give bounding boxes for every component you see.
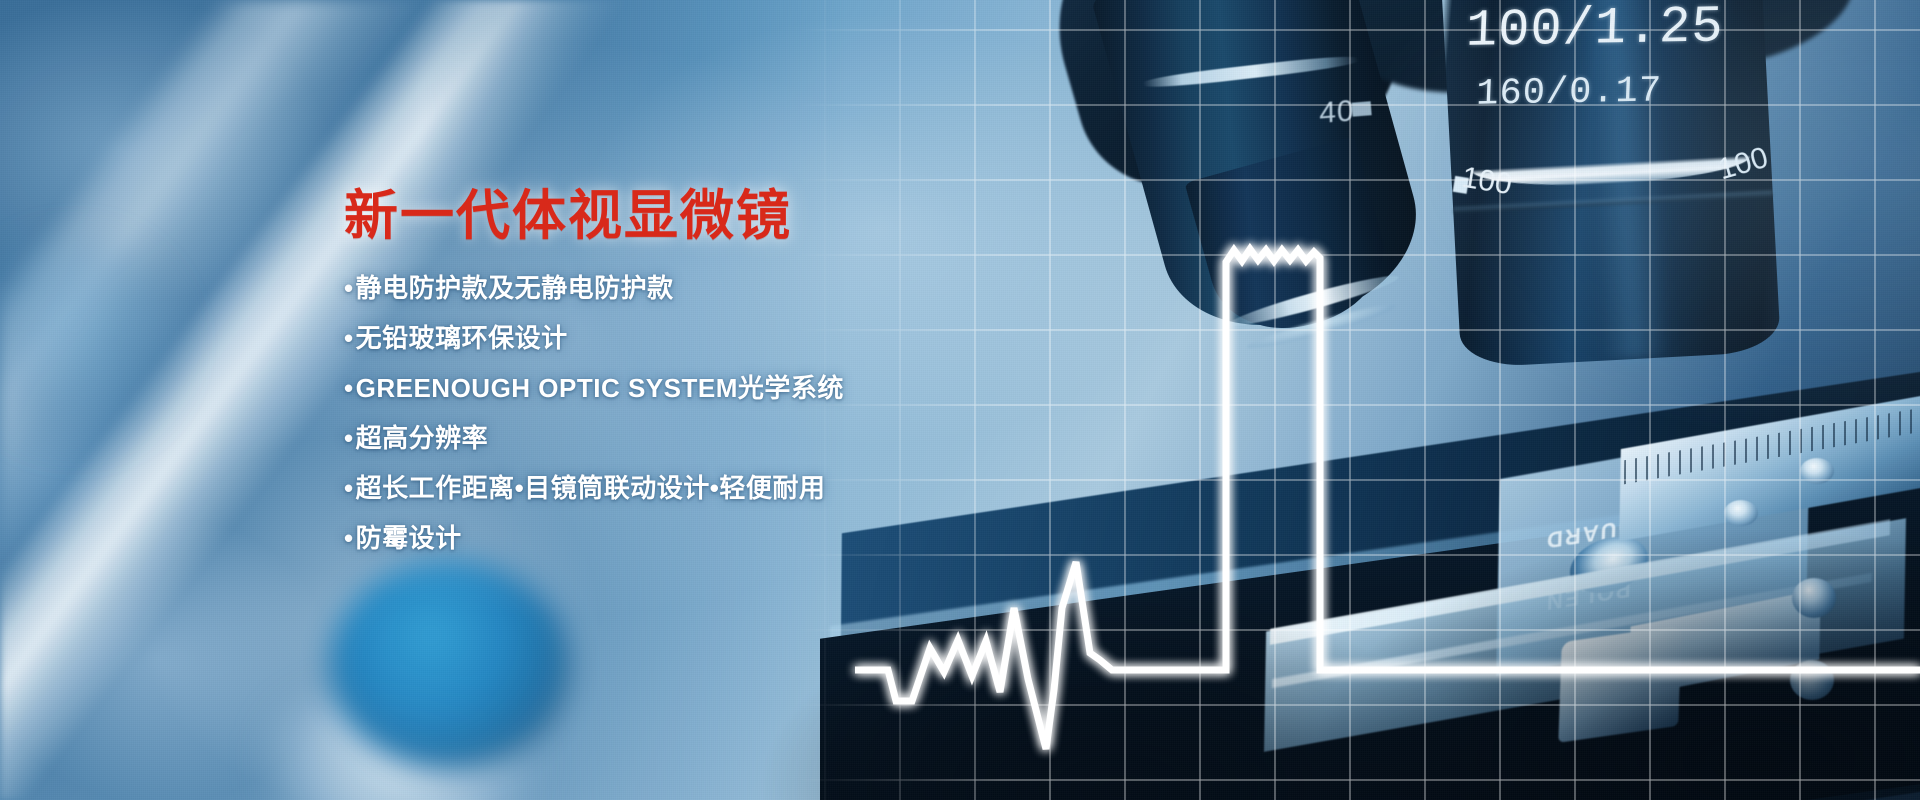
bullet-marker-icon: • [344, 423, 354, 453]
feature-item-4: •超高分辨率 [344, 425, 984, 451]
objective-right-na-label: 100/1.25 [1465, 0, 1725, 61]
stage-screw-1 [1800, 458, 1834, 484]
feature-text-1: 静电防护款及无静电防护款 [356, 273, 674, 303]
objective-lens-right: 100/1.25 160/0.17 100 100 [1439, 0, 1781, 368]
feature-item-3: •GREENOUGH OPTIC SYSTEM光学系统 [344, 375, 984, 401]
objective-left-magnification-label: 40 [1319, 94, 1355, 131]
objective-left-color-band [1352, 101, 1372, 116]
feature-item-5: •超长工作距离•目镜筒联动设计•轻便耐用 [344, 475, 984, 501]
bullet-marker-icon: • [344, 373, 354, 403]
feature-text-6: 防霉设计 [356, 523, 462, 553]
feature-text-3: GREENOUGH OPTIC SYSTEM光学系统 [356, 373, 844, 403]
stage-screw-2 [1724, 500, 1758, 526]
bullet-marker-icon: • [344, 523, 354, 553]
feature-text-5: 超长工作距离•目镜筒联动设计•轻便耐用 [356, 473, 826, 503]
feature-list: •静电防护款及无静电防护款 •无铅玻璃环保设计 •GREENOUGH OPTIC… [344, 275, 984, 551]
bullet-marker-icon: • [344, 273, 354, 303]
objective-right-tube-label: 160/0.17 [1475, 70, 1662, 115]
banner-headline: 新一代体视显微镜 [344, 188, 984, 245]
stage-slide-clip [1558, 625, 1681, 743]
bullet-marker-icon: • [344, 473, 354, 503]
banner-copy: 新一代体视显微镜 •静电防护款及无静电防护款 •无铅玻璃环保设计 •GREENO… [344, 188, 984, 575]
feature-text-2: 无铅玻璃环保设计 [356, 323, 568, 353]
bullet-marker-icon: • [344, 323, 354, 353]
stage-knob-1 [1792, 578, 1836, 618]
feature-item-1: •静电防护款及无静电防护款 [344, 275, 984, 301]
feature-item-6: •防霉设计 [344, 525, 984, 551]
hero-banner: GUARD POLEN 40 100/1.25 160/0.17 [0, 0, 1920, 800]
feature-item-2: •无铅玻璃环保设计 [344, 325, 984, 351]
feature-text-4: 超高分辨率 [356, 423, 489, 453]
stage-knob-2 [1790, 660, 1834, 700]
